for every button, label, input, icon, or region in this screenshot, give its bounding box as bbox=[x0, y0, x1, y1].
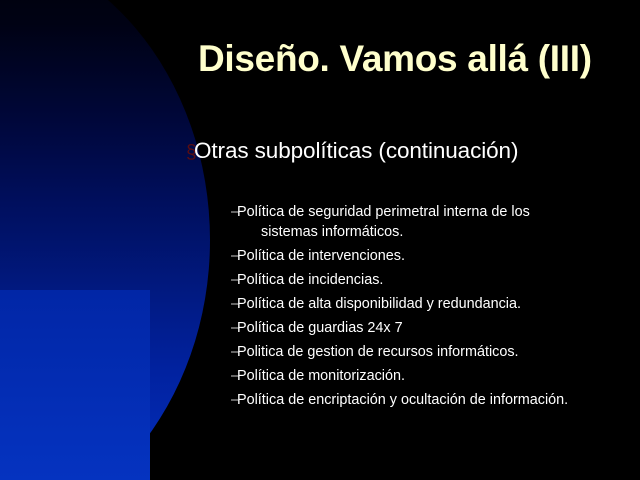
list-item-line1: Política de seguridad perimetral interna… bbox=[237, 204, 530, 220]
list-item: – Política de monitorización. bbox=[231, 367, 626, 387]
list-item: – Política de incidencias. bbox=[231, 271, 626, 291]
presentation-slide: Diseño. Vamos allá (III) § Otras subpolí… bbox=[0, 0, 640, 480]
list-item: – Política de intervenciones. bbox=[231, 247, 626, 267]
list-item: – Política de alta disponibilidad y redu… bbox=[231, 295, 626, 315]
list-item-label: Política de encriptación y ocultación de… bbox=[237, 391, 626, 411]
level1-bullet-row: § Otras subpolíticas (continuación) bbox=[186, 139, 616, 164]
decorative-blue-corner-fill bbox=[0, 290, 150, 480]
level1-bullet-icon: § bbox=[186, 143, 194, 162]
list-item-label: Política de guardias 24x 7 bbox=[237, 319, 626, 339]
list-item: – Politica de gestion de recursos inform… bbox=[231, 343, 626, 363]
list-item-label: Política de monitorización. bbox=[237, 367, 626, 387]
level1-bullet-label: Otras subpolíticas (continuación) bbox=[194, 139, 518, 164]
list-item: – Política de seguridad perimetral inter… bbox=[231, 203, 626, 242]
level2-bullet-list: – Política de seguridad perimetral inter… bbox=[231, 203, 626, 415]
list-item: – Política de encriptación y ocultación … bbox=[231, 391, 626, 411]
list-item-label: Política de incidencias. bbox=[237, 271, 626, 291]
list-item-label: Política de intervenciones. bbox=[237, 247, 626, 267]
list-item: – Política de guardias 24x 7 bbox=[231, 319, 626, 339]
list-item-label: Política de seguridad perimetral interna… bbox=[237, 203, 626, 242]
list-item-line2: sistemas informáticos. bbox=[237, 223, 626, 243]
list-item-label: Política de alta disponibilidad y redund… bbox=[237, 295, 626, 315]
slide-title: Diseño. Vamos allá (III) bbox=[198, 40, 618, 78]
list-item-label: Politica de gestion de recursos informát… bbox=[237, 343, 626, 363]
decorative-blue-ellipse bbox=[0, 0, 210, 480]
